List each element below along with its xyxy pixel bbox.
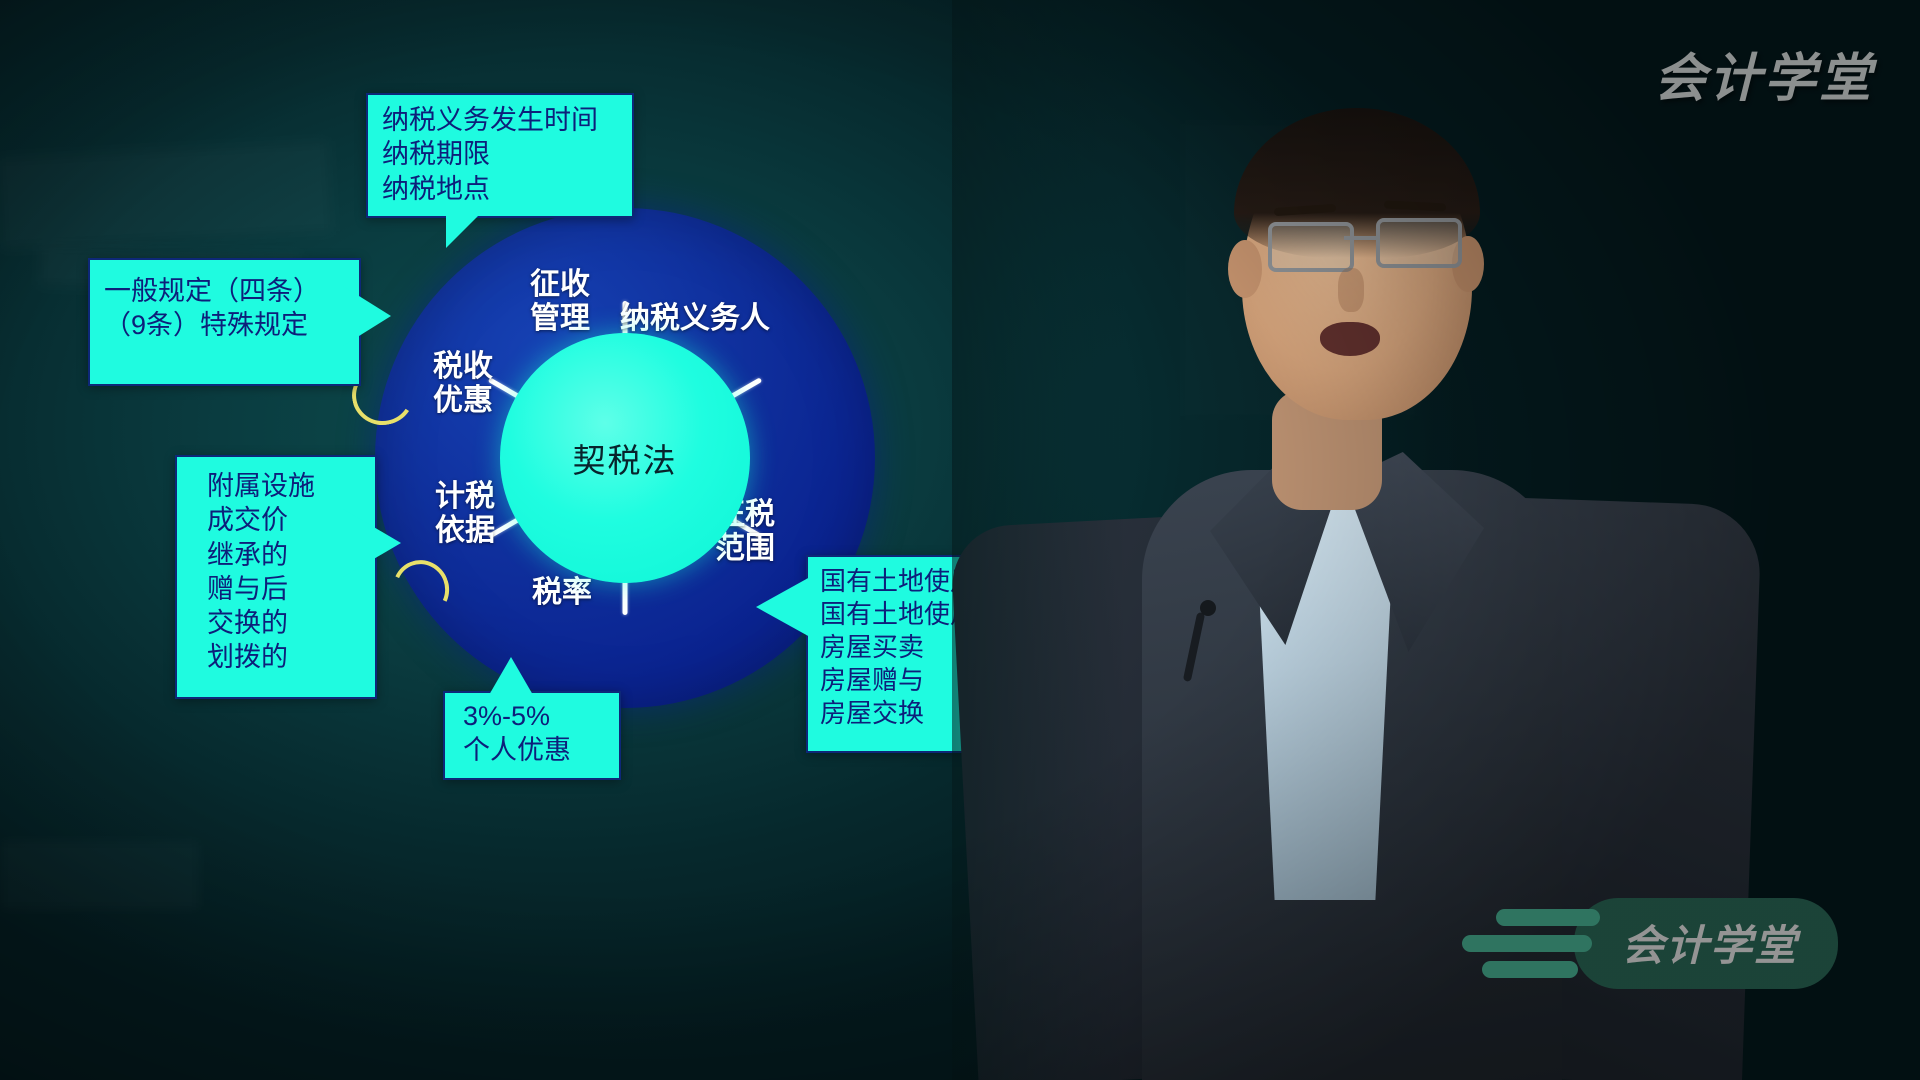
callout-tail (343, 509, 401, 577)
callout-tax-basis: 附属设施 成交价 继承的 赠与后 交换的 划拨的 (175, 455, 377, 699)
callout-tax-rate: 3%-5% 个人优惠 (443, 691, 621, 780)
segment-label-collection-management: 征收 管理 (485, 268, 635, 335)
callout-tail (446, 206, 488, 248)
callout-tail (489, 657, 533, 695)
blackboard-smudge (0, 840, 200, 910)
watermark-logo: 会计学堂 (1654, 36, 1874, 111)
brand-badge-label: 会计学堂 (1622, 922, 1798, 969)
brand-pill: 会计学堂 (1574, 898, 1838, 989)
callout-text: 一般规定（四条） （9条）特殊规定 (104, 274, 359, 343)
callout-tail (343, 286, 391, 346)
donut-center-hub: 契税法 (500, 333, 750, 583)
brand-bars-icon (1448, 909, 1600, 978)
brand-badge: 会计学堂 (1448, 898, 1838, 989)
callout-text: 3%-5% 个人优惠 (463, 699, 619, 768)
lecture-slide-frame: 征收 管理 纳税义务人 征税 范围 税率 计税 依据 税收 优惠 契税法 纳税义… (0, 0, 1920, 1080)
callout-collection-management: 纳税义务发生时间 纳税期限 纳税地点 (366, 93, 634, 218)
callout-tax-preference: 一般规定（四条） （9条）特殊规定 (88, 258, 361, 386)
donut-center-label: 契税法 (573, 434, 678, 482)
segment-label-taxpayer: 纳税义务人 (620, 302, 870, 336)
callout-text: 纳税义务发生时间 纳税期限 纳税地点 (382, 103, 632, 206)
blackboard-smudge (0, 141, 332, 248)
callout-tail (756, 577, 810, 637)
